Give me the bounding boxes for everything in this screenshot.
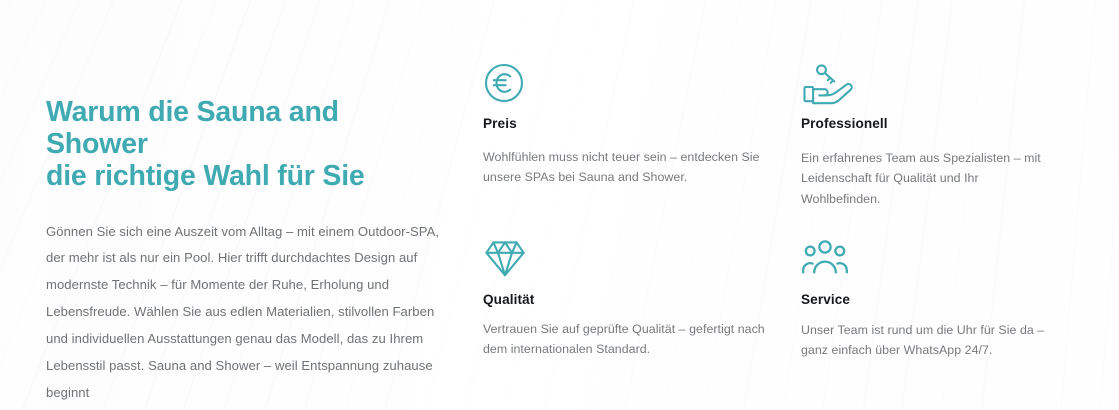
feature-card-qualitaet: Qualität Vertrauen Sie auf geprüfte Qual… [483, 227, 801, 361]
euro-circle-icon [483, 62, 775, 106]
page-title-line-1: Warum die Sauna and Shower [46, 96, 339, 160]
feature-title: Service [801, 292, 1057, 307]
feature-text: Ein erfahrenes Team aus Spezialisten – m… [801, 148, 1057, 209]
feature-section: Warum die Sauna and Shower die richtige … [0, 0, 1119, 410]
feature-text: Wohlfühlen muss nicht teuer sein – entde… [483, 147, 775, 188]
feature-card-preis: Preis Wohlfühlen muss nicht teuer sein –… [483, 62, 801, 227]
hand-key-icon [801, 62, 1057, 106]
feature-card-professionell: Professionell Ein erfahrenes Team aus Sp… [801, 62, 1083, 227]
intro-column: Warum die Sauna and Shower die richtige … [46, 96, 446, 406]
feature-title: Professionell [801, 116, 1057, 131]
page-title-line-2: die richtige Wahl für Sie [46, 160, 365, 192]
feature-title: Qualität [483, 292, 775, 307]
intro-paragraph: Gönnen Sie sich eine Auszeit vom Alltag … [46, 219, 446, 407]
feature-grid: Preis Wohlfühlen muss nicht teuer sein –… [483, 62, 1083, 361]
page-title: Warum die Sauna and Shower die richtige … [46, 96, 446, 193]
feature-title: Preis [483, 116, 775, 131]
feature-text: Unser Team ist rund um die Uhr für Sie d… [801, 320, 1057, 361]
feature-card-service: Service Unser Team ist rund um die Uhr f… [801, 227, 1083, 361]
feature-text: Vertrauen Sie auf geprüfte Qualität – ge… [483, 319, 775, 360]
diamond-icon [483, 238, 775, 282]
people-group-icon [801, 238, 1057, 282]
